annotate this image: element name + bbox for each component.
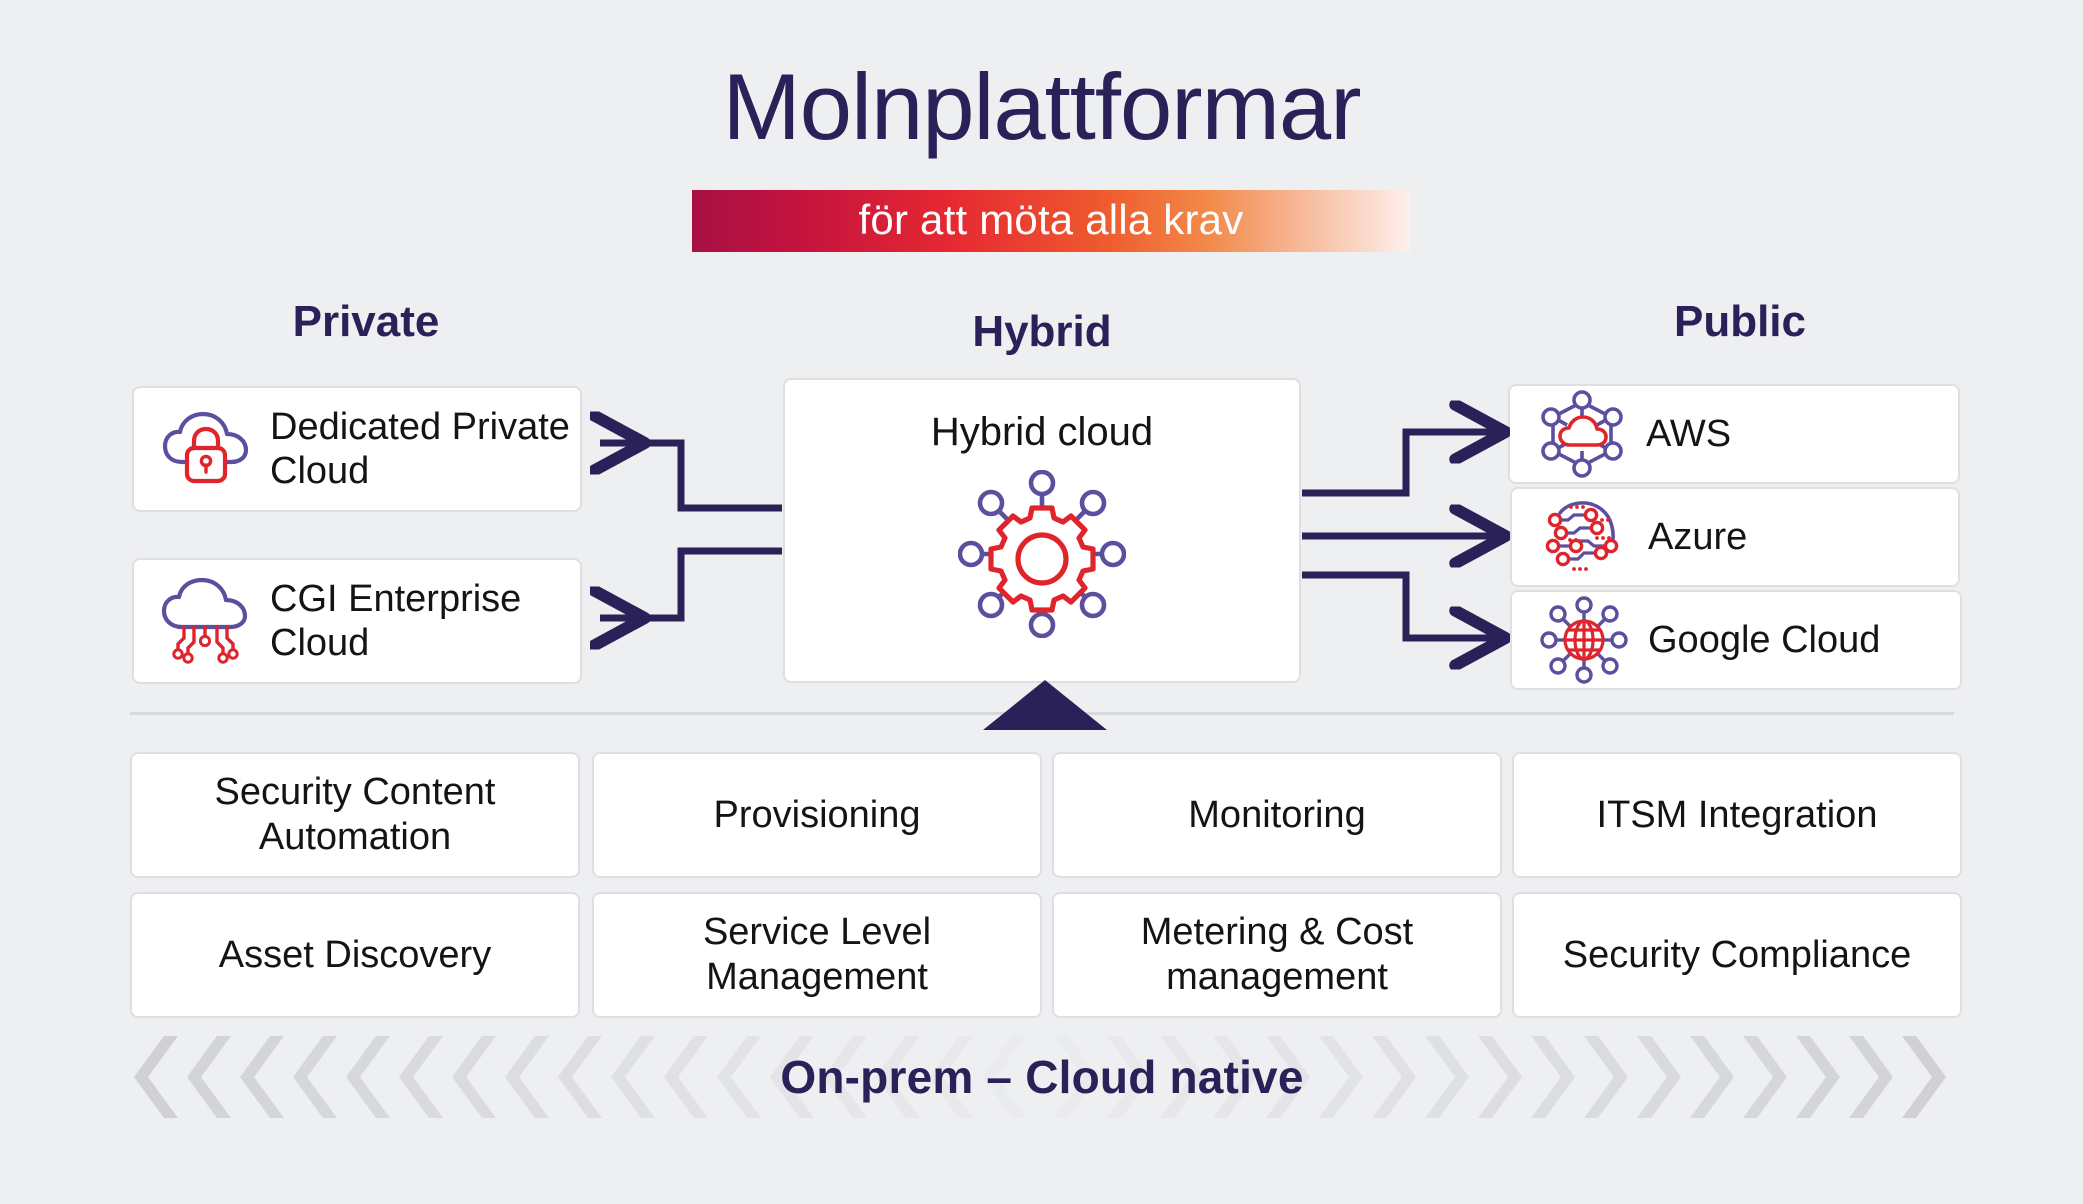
column-heading-hybrid: Hybrid xyxy=(782,310,1302,354)
capability-card[interactable]: Security Content Automation xyxy=(130,752,580,878)
hex-network-cloud-icon xyxy=(1534,386,1630,482)
hybrid-cloud-label: Hybrid cloud xyxy=(931,412,1153,452)
cloud-lock-icon xyxy=(158,401,254,497)
banner-text: On-prem – Cloud native xyxy=(130,1030,1954,1124)
subtitle-text: för att möta alla krav xyxy=(859,199,1244,241)
capability-card[interactable]: Asset Discovery xyxy=(130,892,580,1018)
capability-card[interactable]: Security Compliance xyxy=(1512,892,1962,1018)
gear-network-icon xyxy=(958,470,1126,643)
card-label: AWS xyxy=(1630,412,1958,456)
capability-card[interactable]: Monitoring xyxy=(1052,752,1502,878)
capability-card[interactable]: Service Level Management xyxy=(592,892,1042,1018)
card-cgi-enterprise-cloud[interactable]: CGI Enterprise Cloud xyxy=(132,558,582,684)
card-dedicated-private-cloud[interactable]: Dedicated Private Cloud xyxy=(132,386,582,512)
circuit-board-icon xyxy=(1536,489,1632,585)
card-hybrid-cloud[interactable]: Hybrid cloud xyxy=(783,378,1301,683)
card-azure[interactable]: Azure xyxy=(1510,487,1960,587)
card-google-cloud[interactable]: Google Cloud xyxy=(1510,590,1962,690)
onprem-cloudnative-banner: On-prem – Cloud native xyxy=(130,1030,1954,1124)
page-title: Molnplattformar xyxy=(0,58,2083,157)
card-label: Azure xyxy=(1632,515,1958,559)
card-label: Google Cloud xyxy=(1632,618,1960,662)
globe-network-icon xyxy=(1536,592,1632,688)
column-heading-public: Public xyxy=(1510,300,1970,344)
card-label: CGI Enterprise Cloud xyxy=(254,577,580,665)
column-heading-private: Private xyxy=(132,300,600,344)
card-label: Dedicated Private Cloud xyxy=(254,405,580,493)
card-aws[interactable]: AWS xyxy=(1508,384,1960,484)
cloud-circuit-icon xyxy=(158,573,254,669)
up-triangle-icon xyxy=(983,680,1107,730)
capability-card[interactable]: Metering & Cost management xyxy=(1052,892,1502,1018)
capability-card[interactable]: Provisioning xyxy=(592,752,1042,878)
subtitle-banner: för att möta alla krav xyxy=(692,190,1410,252)
capability-card[interactable]: ITSM Integration xyxy=(1512,752,1962,878)
infographic-canvas: Molnplattformar för att möta alla krav P… xyxy=(0,0,2083,1204)
